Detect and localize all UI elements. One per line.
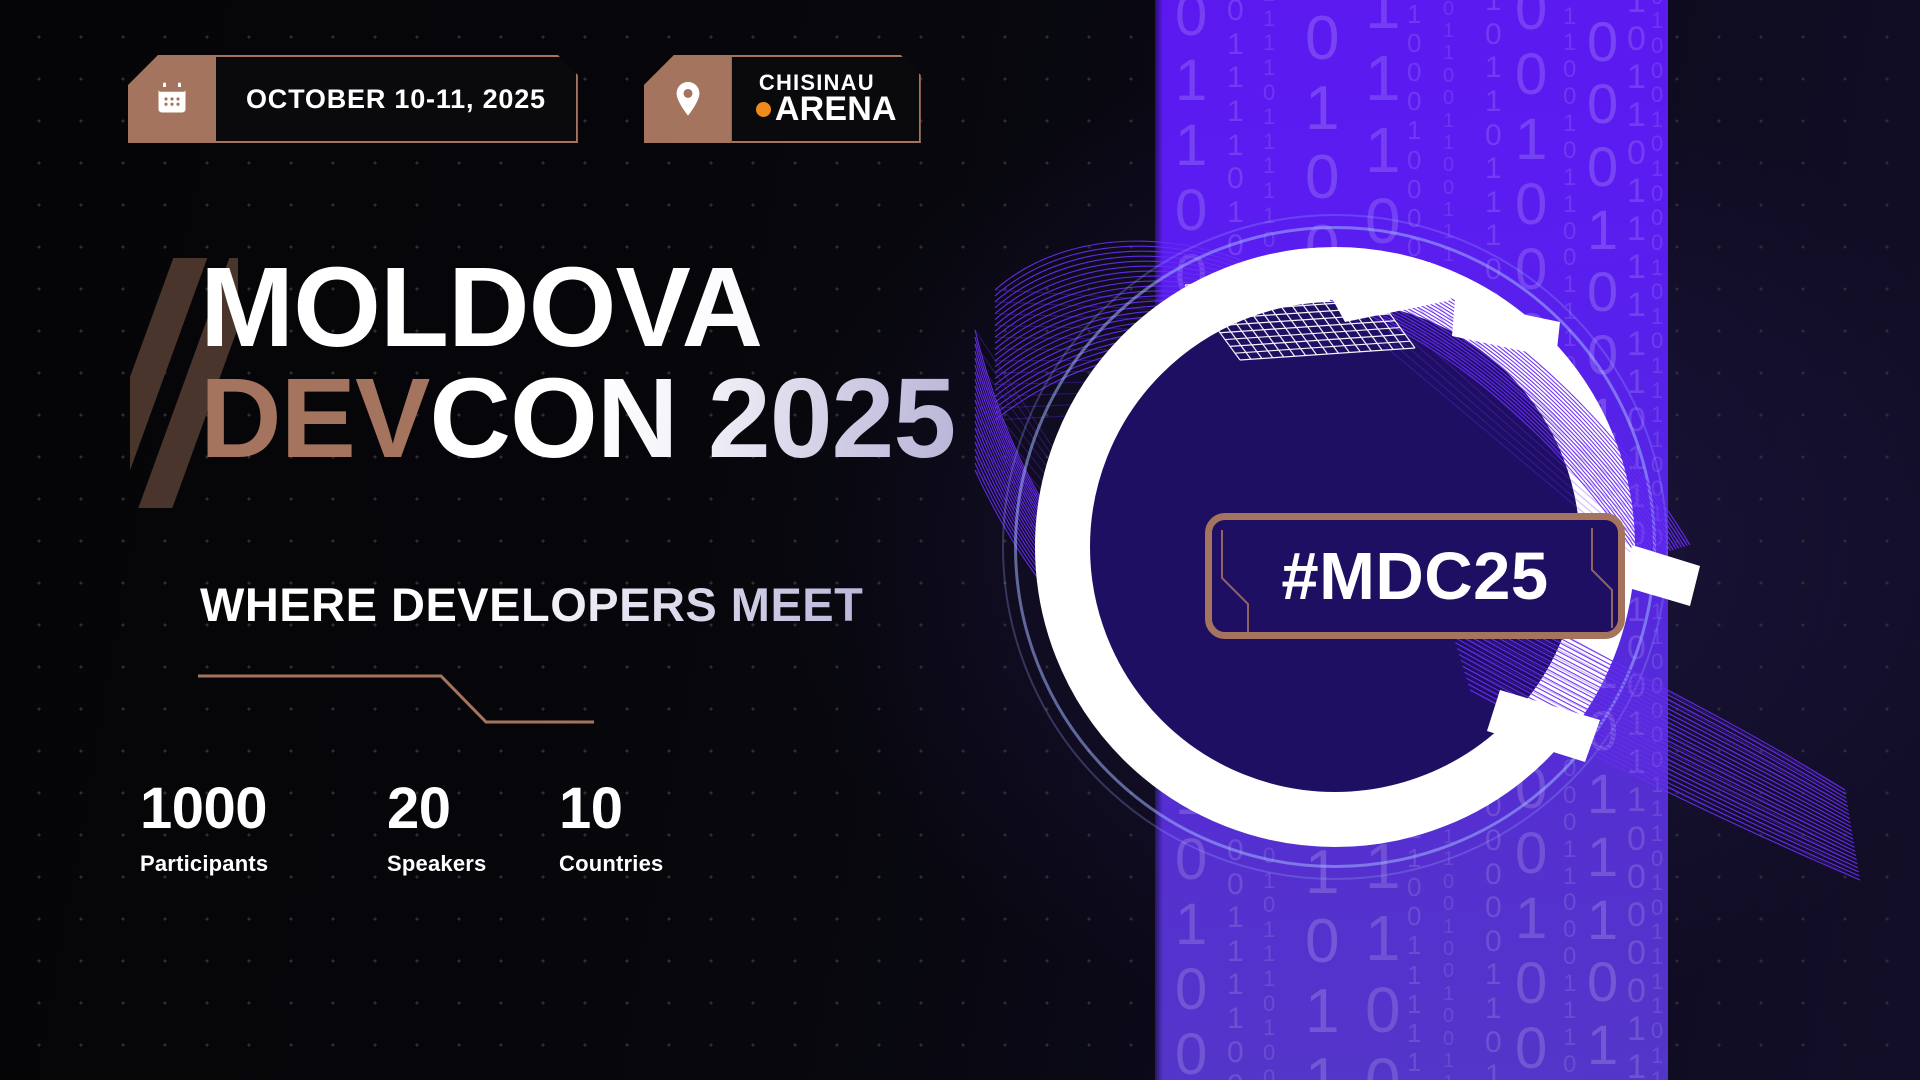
stat-value: 1000 — [140, 780, 387, 838]
hashtag-badge: #MDC25 — [1205, 513, 1625, 639]
left-content: OCTOBER 10-11, 2025 CHISINAU ARENA — [0, 0, 1160, 1080]
stat-label: Participants — [140, 851, 387, 877]
stepped-divider — [196, 670, 596, 740]
date-badge[interactable]: OCTOBER 10-11, 2025 — [128, 55, 578, 143]
date-text: OCTOBER 10-11, 2025 — [246, 84, 546, 115]
stat-value: 10 — [559, 780, 663, 838]
stat-label: Countries — [559, 851, 663, 877]
stats-row: 1000 Participants 20 Speakers 10 Countri… — [140, 780, 663, 877]
venue-name-row: ARENA — [756, 93, 897, 126]
venue-badge-body: CHISINAU ARENA — [732, 55, 921, 143]
info-badges: OCTOBER 10-11, 2025 CHISINAU ARENA — [128, 55, 921, 143]
venue-badge[interactable]: CHISINAU ARENA — [644, 55, 921, 143]
stat-item: 10 Countries — [559, 780, 663, 877]
calendar-icon — [128, 55, 216, 143]
location-pin-icon — [644, 55, 732, 143]
poster-canvas: 1 0 1 1 0 0 0 0 0 0 1 0 0 1 0 1 0 0 1 1 … — [0, 0, 1920, 1080]
date-badge-body: OCTOBER 10-11, 2025 — [216, 55, 578, 143]
title-accent-dev: DEV — [200, 363, 429, 474]
stat-item: 1000 Participants — [140, 780, 387, 877]
title-rest: CON 2025 — [429, 363, 955, 474]
subtitle: WHERE DEVELOPERS MEET — [200, 577, 863, 632]
stat-item: 20 Speakers — [387, 780, 559, 877]
page-title: MOLDOVA DEV CON 2025 — [200, 252, 955, 473]
venue-name: ARENA — [775, 93, 897, 126]
stat-value: 20 — [387, 780, 559, 838]
hashtag-text: #MDC25 — [1281, 538, 1548, 615]
stat-label: Speakers — [387, 851, 559, 877]
venue-orange-dot — [756, 102, 771, 117]
title-line-2: DEV CON 2025 — [200, 363, 955, 474]
title-line-1: MOLDOVA — [200, 252, 955, 363]
